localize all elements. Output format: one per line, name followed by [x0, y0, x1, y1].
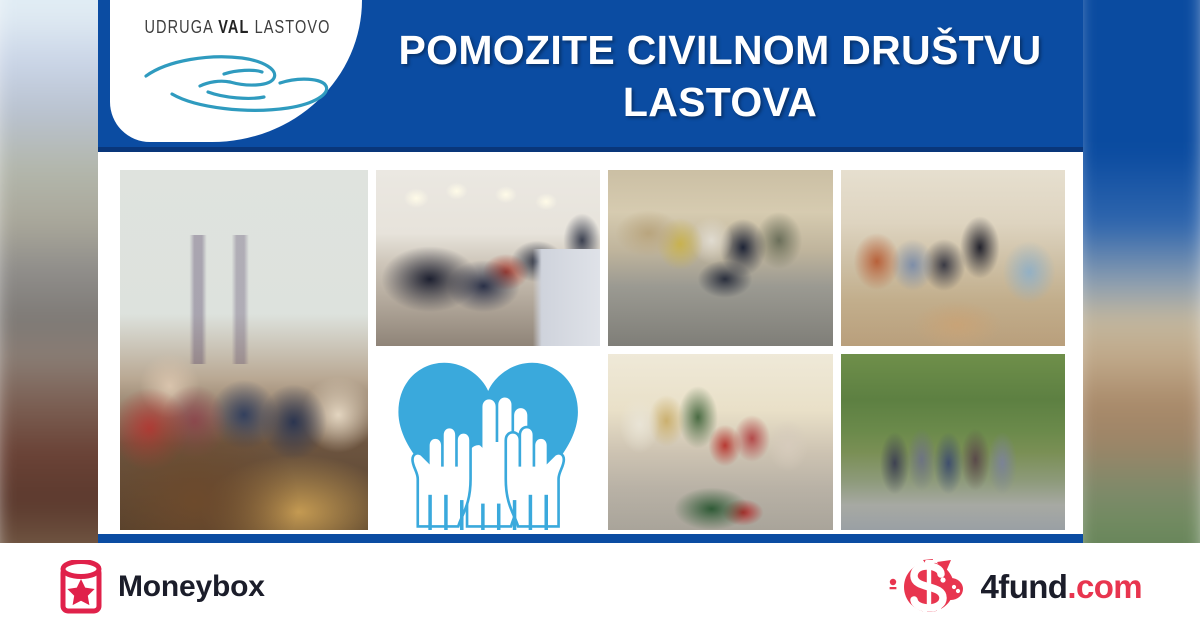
photo-group-seniors-gathering-image [120, 170, 368, 530]
logo-name-bold: VAL [218, 18, 249, 38]
photo-procession-stone-street-image [608, 170, 832, 346]
moneybox-label: Moneybox [118, 570, 265, 604]
piggy-bank-dollar-icon [885, 556, 971, 618]
cradling-hands-wave-icon [138, 48, 338, 118]
organization-logo: UDRUGA VAL LASTOVO [110, 0, 365, 150]
brand-wordmark: 4fund.com [981, 568, 1142, 606]
logo-name-suffix: LASTOVO [249, 18, 330, 38]
photo-community-meeting-hall [376, 170, 600, 346]
brand-name: 4fund [981, 568, 1068, 605]
poster-title-line-1: POMOZITE CIVILNOM DRUŠTVU [370, 24, 1070, 76]
brand-logo-4fund[interactable]: 4fund.com [885, 556, 1142, 618]
photo-church-gathering-image [841, 170, 1065, 346]
photo-collage-grid [120, 170, 1065, 530]
poster-canvas: UDRUGA VAL LASTOVO POMOZITE CIVILNOM DRU… [0, 0, 1200, 630]
poster-title: POMOZITE CIVILNOM DRUŠTVU LASTOVA [370, 24, 1070, 129]
blurred-background-right [1073, 0, 1200, 543]
photo-christmas-event-children-image [608, 354, 832, 530]
brand-tld: .com [1067, 568, 1142, 605]
photo-procession-stone-street [608, 170, 832, 346]
moneybox-can-star-icon [60, 560, 102, 614]
heart-hands-logo [376, 354, 600, 530]
footer-bar: Moneybox [0, 543, 1200, 630]
moneybox-block: Moneybox [60, 560, 265, 614]
photo-church-gathering [841, 170, 1065, 346]
photo-outdoor-walk-group [841, 354, 1065, 530]
organization-logo-text: UDRUGA VAL LASTOVO [110, 18, 365, 38]
photo-christmas-event-children [608, 354, 832, 530]
panel-bottom-blue-rule [98, 534, 1083, 543]
logo-name-prefix: UDRUGA [144, 18, 218, 38]
heart-hands-icon [376, 354, 600, 530]
photo-collage-panel [98, 152, 1083, 543]
poster-title-line-2: LASTOVA [370, 76, 1070, 128]
photo-group-seniors-gathering [120, 170, 368, 530]
photo-community-meeting-hall-image [376, 170, 600, 346]
photo-outdoor-walk-group-image [841, 354, 1065, 530]
